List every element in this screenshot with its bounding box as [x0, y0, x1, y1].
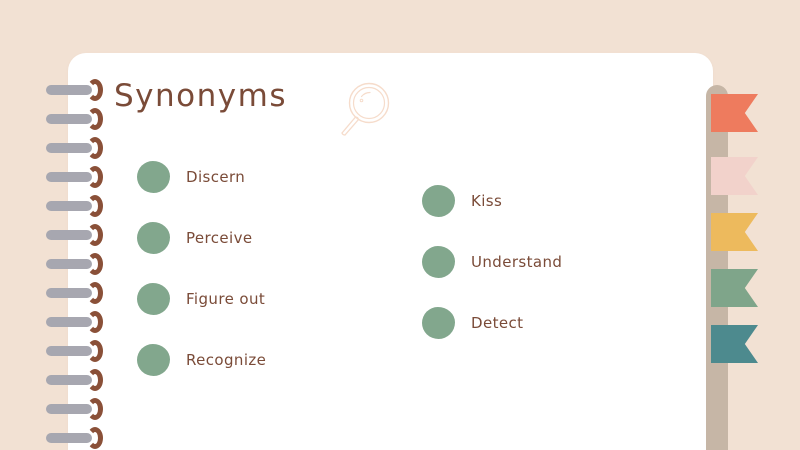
bullet-dot-icon — [137, 161, 170, 193]
flag-coral[interactable] — [711, 94, 758, 132]
synonym-item[interactable]: Recognize — [137, 329, 266, 390]
synonym-item[interactable]: Detect — [422, 292, 562, 353]
bullet-dot-icon — [422, 246, 455, 278]
flag-teal[interactable] — [711, 325, 758, 363]
page-title: Synonyms — [114, 78, 287, 114]
synonym-label: Figure out — [186, 290, 265, 308]
flag-yellow[interactable] — [711, 213, 758, 251]
synonym-item[interactable]: Figure out — [137, 268, 266, 329]
synonym-item[interactable]: Kiss — [422, 170, 562, 231]
bullet-dot-icon — [137, 222, 170, 254]
synonym-label: Kiss — [471, 192, 502, 210]
flag-pink[interactable] — [711, 157, 758, 195]
synonym-item[interactable]: Understand — [422, 231, 562, 292]
bullet-dot-icon — [137, 283, 170, 315]
notebook-scene: Synonyms DiscernPerceiveFigure outRecogn… — [0, 0, 800, 450]
bullet-dot-icon — [422, 185, 455, 217]
bookmark-rail — [706, 85, 728, 450]
synonym-label: Detect — [471, 314, 523, 332]
synonym-label: Recognize — [186, 351, 266, 369]
synonym-column-right: KissUnderstandDetect — [422, 170, 562, 353]
flag-green[interactable] — [711, 269, 758, 307]
synonym-label: Understand — [471, 253, 562, 271]
bullet-dot-icon — [137, 344, 170, 376]
synonym-label: Discern — [186, 168, 245, 186]
synonym-item[interactable]: Discern — [137, 146, 266, 207]
synonym-item[interactable]: Perceive — [137, 207, 266, 268]
magnifying-glass-icon — [332, 80, 394, 142]
synonym-label: Perceive — [186, 229, 253, 247]
bullet-dot-icon — [422, 307, 455, 339]
synonym-column-left: DiscernPerceiveFigure outRecognize — [137, 146, 266, 390]
